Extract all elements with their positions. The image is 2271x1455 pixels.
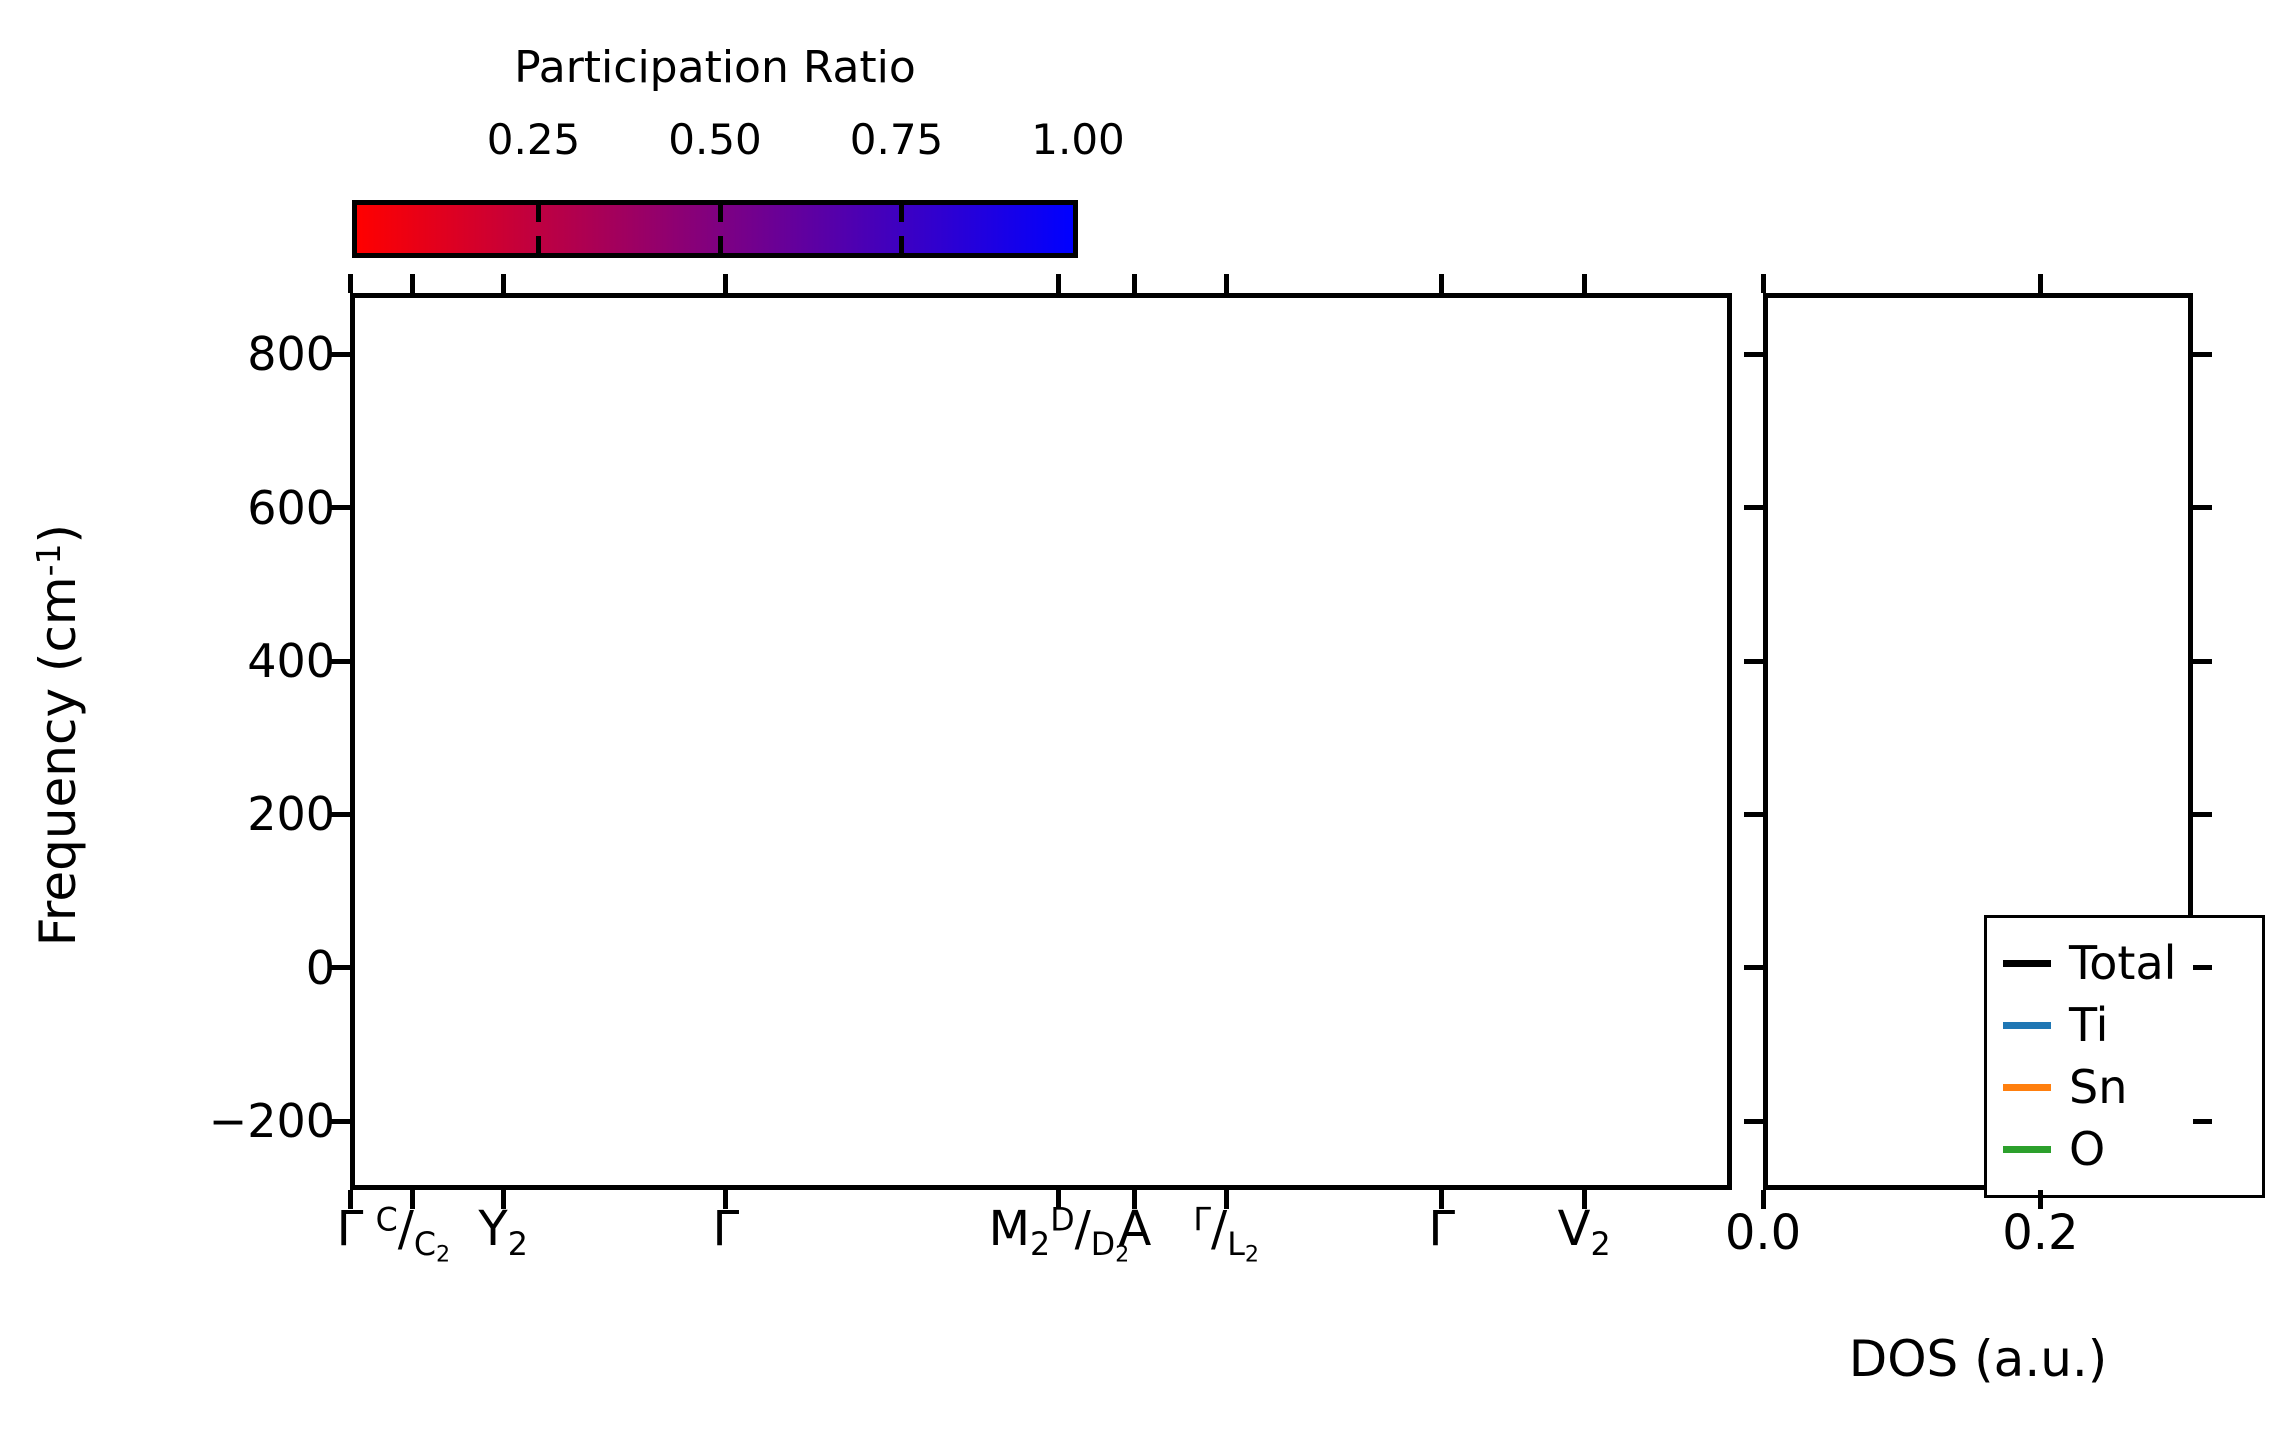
- dos-y-axis-tick-left: [1744, 659, 1763, 664]
- x-axis-tick: [1439, 1190, 1444, 1209]
- dos-y-axis-tick: [2193, 1119, 2212, 1124]
- colorbar-tick-label: 0.75: [850, 115, 944, 164]
- dos-y-axis-tick-left: [1744, 965, 1763, 970]
- y-axis-tick-label: 800: [247, 327, 335, 381]
- y-axis-tick-label: −200: [209, 1094, 335, 1148]
- y-axis-tick: [331, 965, 350, 970]
- x-axis-tick-top: [410, 274, 415, 293]
- x-axis-tick: [1132, 1190, 1137, 1209]
- dos-y-axis-tick: [2193, 352, 2212, 357]
- dos-x-axis-tick: [2038, 1190, 2043, 1209]
- x-axis-tick-top: [1439, 274, 1444, 293]
- x-axis-tick-top: [501, 274, 506, 293]
- y-axis-tick: [331, 352, 350, 357]
- dos-y-axis-tick: [2193, 505, 2212, 510]
- dos-y-axis-tick-left: [1744, 812, 1763, 817]
- dos-y-axis-tick: [2193, 659, 2212, 664]
- x-axis-tick: [410, 1190, 415, 1209]
- dos-x-axis-tick-label: 0.2: [2002, 1205, 2078, 1261]
- colorbar-tick: [718, 236, 723, 253]
- y-axis-tick: [331, 1119, 350, 1124]
- legend-item: Ti: [1987, 994, 2262, 1056]
- colorbar-tick: [899, 236, 904, 253]
- legend-color-swatch: [2003, 960, 2051, 967]
- y-axis-title-close: ): [29, 524, 87, 544]
- x-axis-tick-top: [723, 274, 728, 293]
- colorbar: [352, 200, 1078, 258]
- legend-label: Ti: [2069, 1002, 2108, 1048]
- dos-x-axis-tick: [1761, 1190, 1766, 1209]
- x-axis-tick: [1582, 1190, 1587, 1209]
- colorbar-tick: [718, 205, 723, 222]
- y-axis-title: Frequency (cm-1): [29, 355, 87, 1115]
- x-axis-tick-top: [1056, 274, 1061, 293]
- x-axis-tick-top: [1224, 274, 1229, 293]
- y-axis-tick-label: 400: [247, 634, 335, 688]
- band-structure-svg: [355, 298, 1727, 1185]
- colorbar-title: Participation Ratio: [352, 42, 1078, 94]
- y-axis-tick-label: 600: [247, 481, 335, 535]
- y-axis-title-text: Frequency (cm: [29, 576, 87, 946]
- legend-color-swatch: [2003, 1084, 2051, 1091]
- colorbar-tick-label: 0.25: [487, 115, 581, 164]
- x-axis-tick: [723, 1190, 728, 1209]
- x-axis-tick-top: [1132, 274, 1137, 293]
- x-axis-tick: [501, 1190, 506, 1209]
- legend-label: O: [2069, 1126, 2105, 1172]
- y-axis-tick: [331, 505, 350, 510]
- legend-item: Sn: [1987, 1056, 2262, 1118]
- dos-y-axis-tick-left: [1744, 1119, 1763, 1124]
- dos-x-axis-tick-label: 0.0: [1725, 1205, 1801, 1261]
- figure-root: Participation Ratio 0.250.500.751.00 800…: [0, 0, 2271, 1455]
- dos-legend: TotalTiSnO: [1984, 915, 2265, 1198]
- legend-label: Sn: [2069, 1064, 2127, 1110]
- colorbar-gradient: [357, 205, 1073, 253]
- colorbar-tick: [536, 236, 541, 253]
- dos-y-axis-tick: [2193, 812, 2212, 817]
- y-axis-tick: [331, 812, 350, 817]
- dos-x-axis-tick-top: [2038, 274, 2043, 293]
- dos-x-axis-tick-top: [1761, 274, 1766, 293]
- x-axis-tick-top: [1582, 274, 1587, 293]
- legend-color-swatch: [2003, 1022, 2051, 1029]
- colorbar-tick: [536, 205, 541, 222]
- legend-item: O: [1987, 1118, 2262, 1180]
- phonon-band-structure-plot: [350, 293, 1732, 1190]
- colorbar-tick: [899, 205, 904, 222]
- dos-axis-title: DOS (a.u.): [1763, 1330, 2193, 1388]
- x-axis-tick: [1056, 1190, 1061, 1209]
- dos-y-axis-tick-left: [1744, 352, 1763, 357]
- y-axis-tick: [331, 659, 350, 664]
- x-axis-tick-top: [348, 274, 353, 293]
- legend-item: Total: [1987, 932, 2262, 994]
- x-axis-tick: [348, 1190, 353, 1209]
- colorbar-tick-label: 1.00: [1031, 115, 1125, 164]
- colorbar-tick-labels: 0.250.500.751.00: [352, 115, 1078, 165]
- y-axis-tick-label: 200: [247, 787, 335, 841]
- colorbar-tick-label: 0.50: [668, 115, 762, 164]
- legend-color-swatch: [2003, 1146, 2051, 1153]
- dos-y-axis-tick: [2193, 965, 2212, 970]
- y-axis-title-exponent: -1: [29, 543, 68, 576]
- dos-x-axis-tick-labels: 0.00.2: [0, 1205, 2271, 1285]
- dos-y-axis-tick-left: [1744, 505, 1763, 510]
- legend-label: Total: [2069, 940, 2176, 986]
- x-axis-tick: [1224, 1190, 1229, 1209]
